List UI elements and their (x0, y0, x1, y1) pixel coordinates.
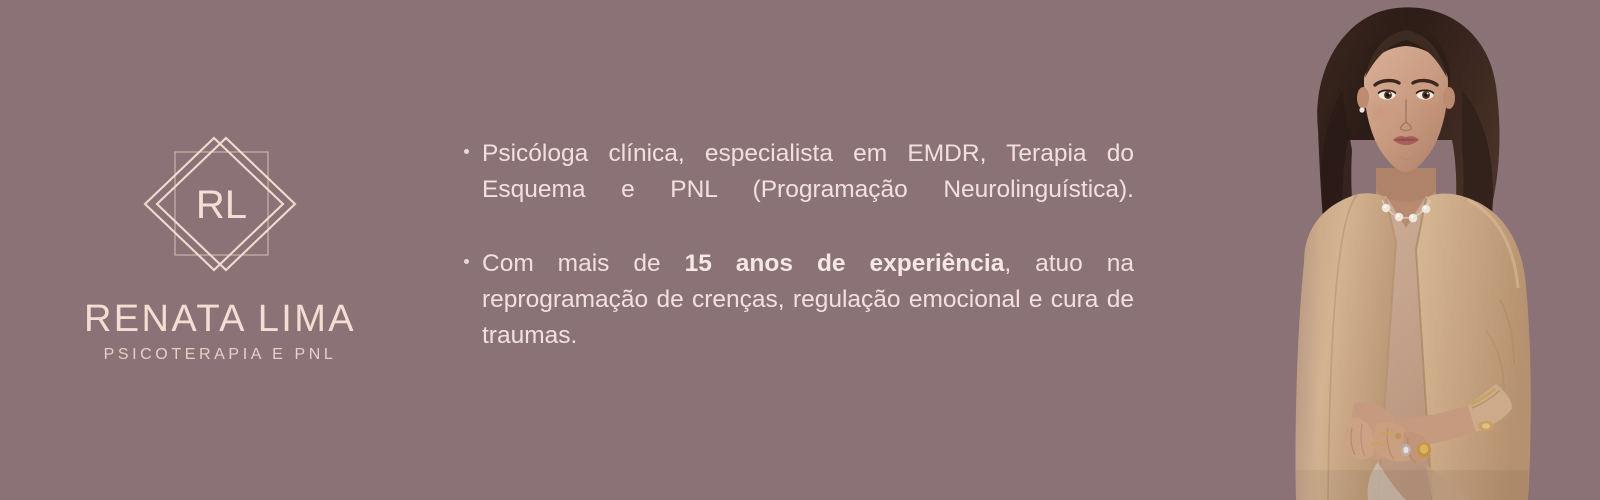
diamond-square-monogram-icon: RL (140, 130, 300, 278)
profile-banner: RL RENATA LIMA PSICOTERAPIA E PNL Psicól… (0, 0, 1600, 500)
bio-experience-text: Com mais de 15 anos de experiência, atuo… (482, 246, 1134, 354)
bio-credentials-text: Psicóloga clínica, especialista em EMDR,… (482, 136, 1134, 244)
logo-monogram: RL (140, 130, 300, 278)
list-item: Psicóloga clínica, especialista em EMDR,… (458, 136, 1134, 244)
brand-logo: RL RENATA LIMA PSICOTERAPIA E PNL (60, 130, 380, 360)
bullet-dot-icon (464, 259, 469, 264)
logo-wordmark: RENATA LIMA (84, 300, 356, 338)
list-item: Com mais de 15 anos de experiência, atuo… (458, 246, 1134, 354)
bullet-dot-icon (464, 149, 469, 154)
logo-tagline: PSICOTERAPIA E PNL (104, 347, 337, 363)
portrait-photo (1200, 0, 1600, 500)
bio-bullet-list: Psicóloga clínica, especialista em EMDR,… (458, 136, 1134, 356)
